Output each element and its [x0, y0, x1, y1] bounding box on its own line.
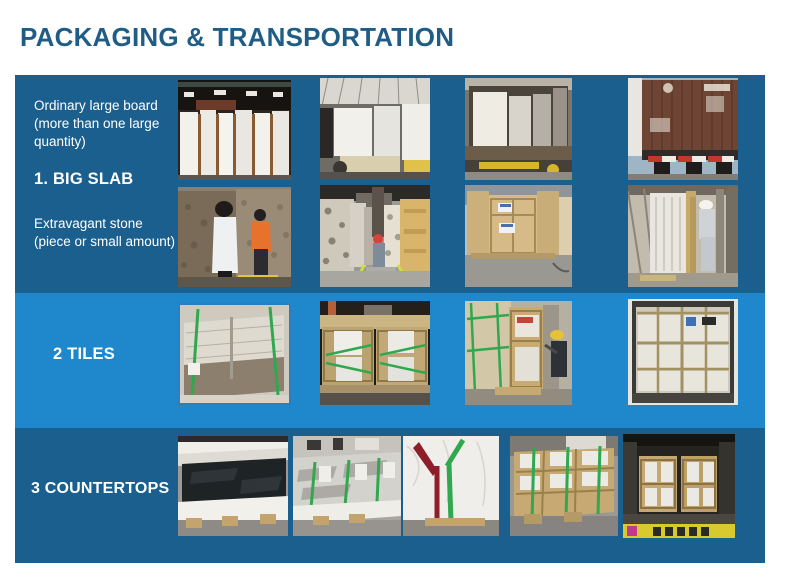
big-slab-heading: 1. BIG SLAB: [34, 170, 179, 189]
slide-root: PACKAGING & TRANSPORTATION Ordinary larg…: [0, 0, 790, 584]
big-slab-desc-top: Ordinary large board (more than one larg…: [34, 97, 179, 151]
photo-dark-countertop-pallet: [178, 436, 288, 536]
label-column-countertops: 3 COUNTERTOPS: [15, 428, 178, 563]
photo-container-full-crates: [628, 299, 738, 405]
label-column-big-slab: Ordinary large board (more than one larg…: [15, 75, 178, 293]
photo-white-slabs-warehouse: [178, 80, 291, 180]
photo-worker-securing-slabs: [628, 185, 738, 287]
photo-workers-inspecting-granite: [178, 187, 291, 287]
photo-container-loaded-crates: [623, 434, 735, 538]
photo-grey-marble-countertops: [293, 436, 401, 536]
photo-strapped-tile-pallet: [178, 303, 291, 405]
row-tiles: 2 TILES: [15, 293, 765, 428]
packaging-panel: Ordinary large board (more than one larg…: [15, 75, 765, 563]
photo-slabs-loading-container: [320, 78, 430, 180]
photo-crates-green-straps: [510, 436, 618, 536]
photo-open-container-slabs: [465, 78, 572, 180]
photo-loading-crate-container: [465, 301, 572, 405]
tiles-heading: 2 TILES: [53, 345, 183, 364]
photo-brown-container-truck: [628, 78, 738, 180]
label-column-tiles: 2 TILES: [15, 293, 178, 428]
row-countertops: 3 COUNTERTOPS: [15, 428, 765, 563]
photo-slab-yard-walkway: [320, 185, 430, 287]
big-slab-desc-bottom: Extravagant stone (piece or small amount…: [34, 215, 179, 251]
countertops-heading: 3 COUNTERTOPS: [31, 480, 191, 498]
photo-crated-tile-pallets: [320, 301, 430, 405]
photo-white-wrapped-bundle: [403, 436, 499, 536]
page-title: PACKAGING & TRANSPORTATION: [20, 22, 454, 53]
photo-wooden-crates-labeled: [465, 185, 572, 287]
row-big-slab: Ordinary large board (more than one larg…: [15, 75, 765, 293]
